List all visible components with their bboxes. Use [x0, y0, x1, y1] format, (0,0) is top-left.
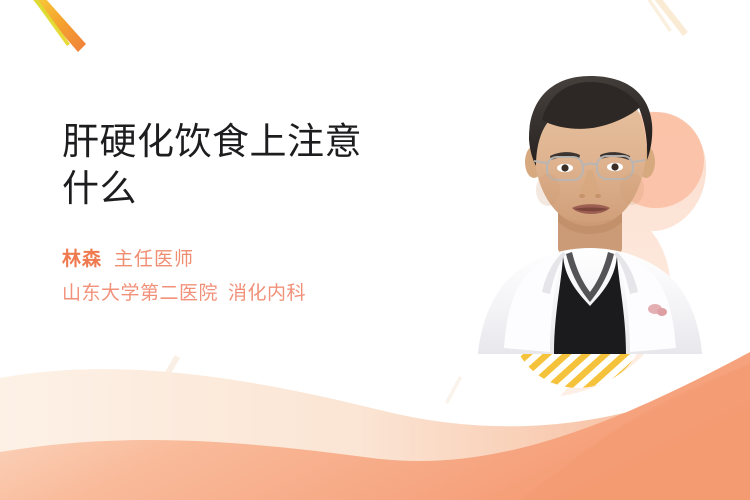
headline-block: 肝硬化饮食上注意 什么	[62, 118, 432, 213]
doctor-name-rank-line: 林森主任医师	[62, 248, 442, 272]
page-title: 肝硬化饮食上注意 什么	[62, 118, 432, 213]
doctor-info-block: 林森主任医师 山东大学第二医院消化内科	[62, 248, 442, 306]
faint-stroke-bottomleft	[155, 355, 180, 392]
doctor-affiliation-line: 山东大学第二医院消化内科	[62, 282, 442, 306]
diagonal-strokes-topleft	[25, 0, 86, 52]
doctor-video-cover-card: 肝硬化饮食上注意 什么 林森主任医师 山东大学第二医院消化内科	[0, 0, 750, 500]
portrait-container	[430, 62, 750, 392]
doctor-department: 消化内科	[228, 283, 306, 304]
doctor-name: 林森	[62, 249, 102, 270]
doctor-portrait	[430, 62, 750, 392]
diagonal-strokes-topright	[643, 0, 688, 36]
doctor-rank: 主任医师	[114, 249, 194, 270]
doctor-hospital: 山东大学第二医院	[62, 283, 218, 304]
